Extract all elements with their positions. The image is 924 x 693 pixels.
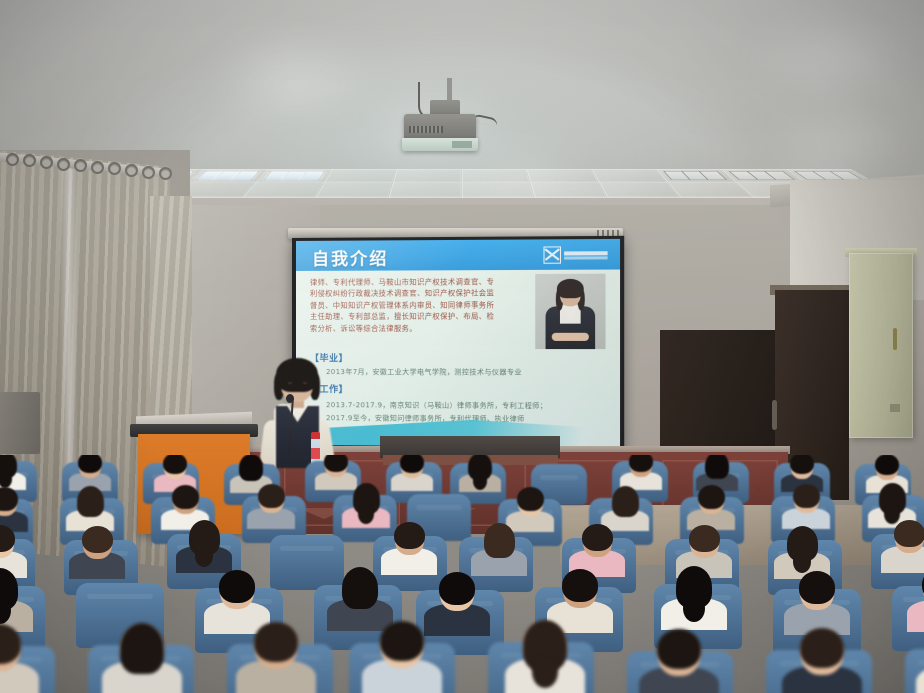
light-glow [745, 35, 905, 90]
auditorium-seat[interactable] [275, 540, 339, 584]
audience-member-hair [258, 484, 285, 508]
audience-member-ponytail [683, 595, 705, 622]
audience-member-hair [82, 526, 113, 553]
audience-member-hair [790, 455, 814, 474]
audience-member-ponytail [195, 544, 214, 567]
ceiling-tile [316, 182, 392, 196]
audience-member-hair [629, 455, 653, 472]
audience-member-hair [163, 455, 187, 474]
audience-member-hair [254, 622, 298, 662]
section-text-graduation: 2013年7月，安徽工业大学电气学院，测控技术与仪器专业 [326, 367, 522, 377]
projector-label [452, 141, 472, 148]
presenter [248, 358, 344, 468]
bio-line: 主任助理、专利部总监，擅长知识产权保护、布局、检 [310, 311, 529, 323]
audience-member-hair [77, 486, 104, 517]
microphone-icon [286, 394, 294, 403]
curtain-grommet [142, 166, 155, 179]
water-bottle-cap [311, 432, 320, 439]
audience-member-hair [657, 629, 701, 669]
curtain-grommet [40, 156, 53, 169]
bio-paragraph: 律师、专利代理师、马鞍山市知识产权技术调查官、专 利侵权纠纷行政裁决技术调查官、… [310, 276, 529, 347]
bio-line: 督员、中知知识产权管理体系内审员、知同律师事务所 [310, 299, 529, 311]
audience-member-hair [239, 455, 263, 481]
speaker-portrait-photo [535, 274, 605, 349]
curtain-grommet [57, 158, 70, 171]
audience-member-ponytail [532, 654, 559, 687]
audience-member-hair [799, 571, 835, 604]
audience-member-hair [172, 485, 199, 509]
wall-speaker [0, 392, 40, 454]
audience-member-hair [800, 628, 844, 668]
curtain-grommet [91, 161, 104, 174]
bio-line: 律师、专利代理师、马鞍山市知识产权技术调查官、专 [310, 276, 529, 288]
presentation-slide: 自我介绍 律师、专利代理师、马鞍山市知识产权技术调查官、专 利侵权纠纷行政裁决技… [296, 239, 620, 447]
portrait-arms [552, 333, 589, 341]
audience-member-hair [380, 621, 424, 661]
audience-member-hair [875, 455, 899, 475]
door-handle[interactable] [772, 400, 777, 430]
bio-line: 利侵权纠纷行政裁决技术调查官、知识产权保护社会监 [310, 288, 529, 300]
ceiling-light-panel [196, 171, 260, 180]
slide-title: 自我介绍 [312, 244, 388, 270]
bio-line: 索分析、诉讼等综合法律服务。 [310, 322, 529, 334]
ceiling-tile [592, 169, 667, 182]
audience-member-hair [689, 525, 720, 552]
audience-member-hair [394, 522, 425, 549]
audience-member-hair [894, 520, 924, 547]
audience-member-hair [698, 485, 725, 509]
ceiling-tile [393, 169, 460, 182]
audience-member-hair [400, 455, 424, 473]
audience-member-hair [793, 484, 820, 508]
audience-member-hair [582, 524, 613, 551]
audience-member-hair [705, 455, 729, 479]
cabinet-lock-icon [890, 404, 900, 412]
audience-member-hair [342, 567, 378, 609]
cabinet-handle[interactable] [893, 328, 897, 350]
light-glow [215, 45, 365, 105]
ceiling-tile [325, 169, 396, 182]
audience-member-ponytail [473, 472, 487, 490]
lecture-hall-photo: 自我介绍 律师、专利代理师、马鞍山市知识产权技术调查官、专 利侵权纠纷行政裁决技… [0, 0, 924, 693]
curtain-grommet [6, 153, 19, 166]
university-logo [543, 246, 607, 264]
audience-member-hair [612, 486, 639, 517]
audience-member-hair [0, 487, 18, 511]
section-text-work-1: 2013.7-2017.9，南京知识（马鞍山）律师事务所，专利工程师； [326, 400, 547, 411]
audience-member-hair [78, 455, 102, 473]
audience-member-hair [439, 572, 475, 605]
audience-member-hair [120, 623, 164, 674]
ceiling-tile [243, 182, 323, 196]
portrait-hair [557, 279, 584, 298]
presenter-fringe [277, 363, 317, 376]
logo-wordmark [564, 251, 607, 259]
audience-member-hair [562, 569, 598, 602]
audience-member-hair [219, 570, 255, 603]
logo-mark-icon [543, 246, 561, 263]
audience-member-hair [517, 487, 544, 511]
ceiling-tile [599, 182, 679, 196]
projector-vent [409, 126, 443, 133]
audience-seating [0, 455, 924, 693]
wall-cabinet[interactable] [849, 253, 913, 438]
ceiling-tile [389, 182, 461, 196]
ceiling-light-panel [263, 171, 325, 180]
audience-member-hair [484, 523, 515, 558]
audience-member-ponytail [793, 550, 812, 573]
ceiling-light-panel [663, 171, 727, 180]
audience-member-hair [324, 455, 348, 472]
light-glow [760, 115, 910, 165]
